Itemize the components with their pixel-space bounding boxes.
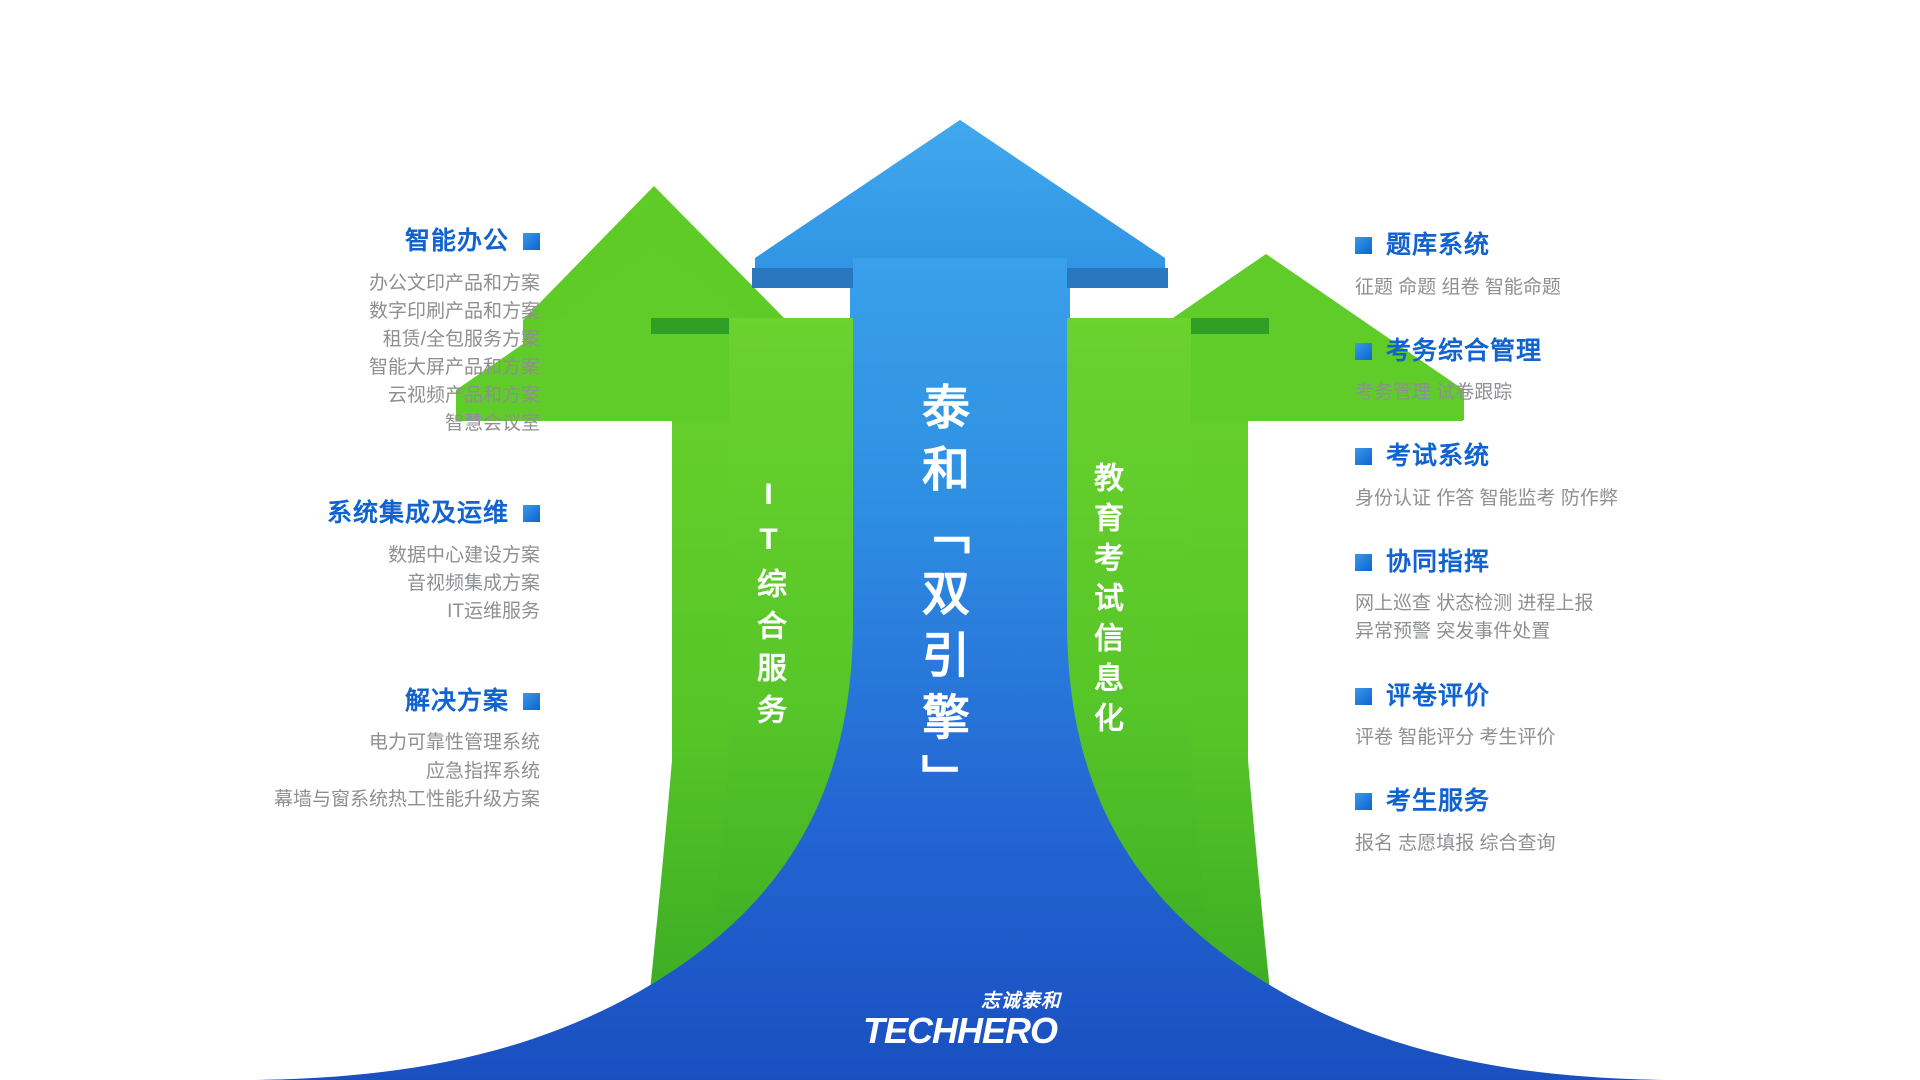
content-block: 智能办公办公文印产品和方案数字印刷产品和方案租赁/全包服务方案智能大屏产品和方案… <box>120 228 540 438</box>
block-item[interactable]: 数据中心建设方案 <box>120 542 540 570</box>
content-block: 考试系统身份认证 作答 智能监考 防作弊 <box>1355 443 1825 513</box>
content-block: 考务综合管理考务管理 试卷跟踪 <box>1355 338 1825 408</box>
square-bullet-icon <box>523 505 540 522</box>
block-items: 办公文印产品和方案数字印刷产品和方案租赁/全包服务方案智能大屏产品和方案云视频产… <box>120 270 540 439</box>
block-item[interactable]: 幕墙与窗系统热工性能升级方案 <box>120 786 540 814</box>
content-block: 评卷评价评卷 智能评分 考生评价 <box>1355 683 1825 753</box>
block-title: 系统集成及运维 <box>327 500 509 528</box>
center-arrow-label: 泰和「双引擎」 <box>916 382 964 816</box>
block-item[interactable]: 评卷 智能评分 考生评价 <box>1355 724 1825 752</box>
block-item[interactable]: IT运维服务 <box>120 598 540 626</box>
block-item[interactable]: 智慧会议室 <box>120 410 540 438</box>
block-item[interactable]: 电力可靠性管理系统 <box>120 729 540 757</box>
block-items: 电力可靠性管理系统应急指挥系统幕墙与窗系统热工性能升级方案 <box>120 729 540 813</box>
content-block: 协同指挥网上巡查 状态检测 进程上报异常预警 突发事件处置 <box>1355 549 1825 647</box>
block-item[interactable]: 办公文印产品和方案 <box>120 270 540 298</box>
block-heading[interactable]: 题库系统 <box>1355 232 1825 260</box>
block-items: 征题 命题 组卷 智能命题 <box>1355 274 1825 302</box>
block-heading[interactable]: 智能办公 <box>120 228 540 256</box>
square-bullet-icon <box>1355 343 1372 360</box>
block-title: 考试系统 <box>1386 443 1490 471</box>
block-heading[interactable]: 协同指挥 <box>1355 549 1825 577</box>
block-items: 报名 志愿填报 综合查询 <box>1355 830 1825 858</box>
logo-english-name: TECHHERO <box>855 1013 1065 1049</box>
block-heading[interactable]: 考务综合管理 <box>1355 338 1825 366</box>
block-title: 评卷评价 <box>1386 683 1490 711</box>
left-content-column: 智能办公办公文印产品和方案数字印刷产品和方案租赁/全包服务方案智能大屏产品和方案… <box>120 228 540 814</box>
square-bullet-icon <box>1355 688 1372 705</box>
block-item[interactable]: 网上巡查 状态检测 进程上报 <box>1355 590 1825 618</box>
block-items: 评卷 智能评分 考生评价 <box>1355 724 1825 752</box>
logo-chinese-name: 志诚泰和 <box>855 992 1065 1011</box>
company-logo: 志诚泰和 TECHHERO <box>855 992 1065 1049</box>
content-block: 解决方案电力可靠性管理系统应急指挥系统幕墙与窗系统热工性能升级方案 <box>120 688 540 814</box>
square-bullet-icon <box>1355 554 1372 571</box>
block-title: 考务综合管理 <box>1386 338 1542 366</box>
block-item[interactable]: 征题 命题 组卷 智能命题 <box>1355 274 1825 302</box>
block-title: 智能办公 <box>405 228 509 256</box>
block-heading[interactable]: 解决方案 <box>120 688 540 716</box>
block-item[interactable]: 云视频产品和方案 <box>120 382 540 410</box>
block-item[interactable]: 音视频集成方案 <box>120 570 540 598</box>
block-item[interactable]: 报名 志愿填报 综合查询 <box>1355 830 1825 858</box>
content-block: 题库系统征题 命题 组卷 智能命题 <box>1355 232 1825 302</box>
left-arrow-label: IT综合服务 <box>753 478 783 736</box>
right-content-column: 题库系统征题 命题 组卷 智能命题考务综合管理考务管理 试卷跟踪考试系统身份认证… <box>1355 232 1825 858</box>
block-title: 考生服务 <box>1386 788 1490 816</box>
block-heading[interactable]: 考生服务 <box>1355 788 1825 816</box>
block-title: 协同指挥 <box>1386 549 1490 577</box>
block-item[interactable]: 考务管理 试卷跟踪 <box>1355 379 1825 407</box>
right-arrow-label: 教育考试信息化 <box>1090 462 1120 742</box>
block-item[interactable]: 租赁/全包服务方案 <box>120 326 540 354</box>
square-bullet-icon <box>1355 793 1372 810</box>
block-items: 网上巡查 状态检测 进程上报异常预警 突发事件处置 <box>1355 590 1825 646</box>
block-item[interactable]: 应急指挥系统 <box>120 758 540 786</box>
block-title: 题库系统 <box>1386 232 1490 260</box>
square-bullet-icon <box>1355 237 1372 254</box>
content-block: 考生服务报名 志愿填报 综合查询 <box>1355 788 1825 858</box>
block-item[interactable]: 异常预警 突发事件处置 <box>1355 618 1825 646</box>
block-heading[interactable]: 考试系统 <box>1355 443 1825 471</box>
block-title: 解决方案 <box>405 688 509 716</box>
block-items: 身份认证 作答 智能监考 防作弊 <box>1355 485 1825 513</box>
content-block: 系统集成及运维数据中心建设方案音视频集成方案IT运维服务 <box>120 500 540 626</box>
square-bullet-icon <box>1355 448 1372 465</box>
block-items: 数据中心建设方案音视频集成方案IT运维服务 <box>120 542 540 626</box>
square-bullet-icon <box>523 693 540 710</box>
block-item[interactable]: 数字印刷产品和方案 <box>120 298 540 326</box>
block-heading[interactable]: 评卷评价 <box>1355 683 1825 711</box>
square-bullet-icon <box>523 233 540 250</box>
block-items: 考务管理 试卷跟踪 <box>1355 379 1825 407</box>
block-heading[interactable]: 系统集成及运维 <box>120 500 540 528</box>
block-item[interactable]: 身份认证 作答 智能监考 防作弊 <box>1355 485 1825 513</box>
block-item[interactable]: 智能大屏产品和方案 <box>120 354 540 382</box>
infographic-canvas: IT综合服务 泰和「双引擎」 教育考试信息化 志诚泰和 TECHHERO 智能办… <box>0 0 1920 1080</box>
